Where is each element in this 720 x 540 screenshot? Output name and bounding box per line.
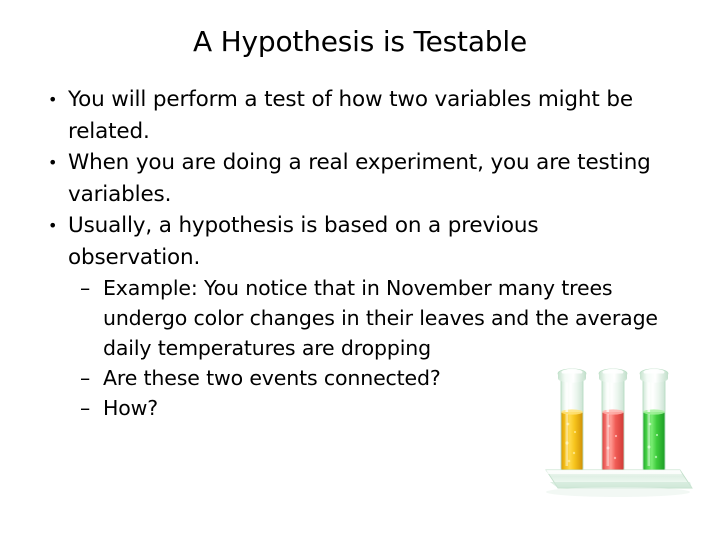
sub-list-item-text: Example: You notice that in November man… — [103, 276, 658, 360]
list-item: • Usually, a hypothesis is based on a pr… — [0, 210, 720, 273]
bullet-dot-icon: • — [48, 210, 57, 242]
bullet-dash-icon: – — [80, 273, 90, 303]
bullet-dash-icon: – — [80, 363, 90, 393]
list-item-text: You will perform a test of how two varia… — [68, 87, 633, 144]
list-item-text: Usually, a hypothesis is based on a prev… — [68, 213, 538, 270]
slide: A Hypothesis is Testable • You will perf… — [0, 0, 720, 540]
bullet-dash-icon: – — [80, 393, 90, 423]
list-item: • When you are doing a real experiment, … — [0, 147, 720, 210]
bullet-dot-icon: • — [48, 84, 57, 116]
bullet-dot-icon: • — [48, 147, 57, 179]
slide-body: • You will perform a test of how two var… — [0, 84, 720, 484]
sub-list-item-text: How? — [103, 396, 158, 420]
sub-list-item: – Example: You notice that in November m… — [0, 273, 720, 363]
bullet-list: • You will perform a test of how two var… — [0, 84, 720, 423]
sub-list-item-text: Are these two events connected? — [103, 366, 441, 390]
sub-list-item: – How? — [0, 393, 720, 423]
list-item: • You will perform a test of how two var… — [0, 84, 720, 147]
sub-list-item: – Are these two events connected? — [0, 363, 720, 393]
page-title: A Hypothesis is Testable — [40, 25, 680, 59]
list-item-text: When you are doing a real experiment, yo… — [68, 150, 651, 207]
